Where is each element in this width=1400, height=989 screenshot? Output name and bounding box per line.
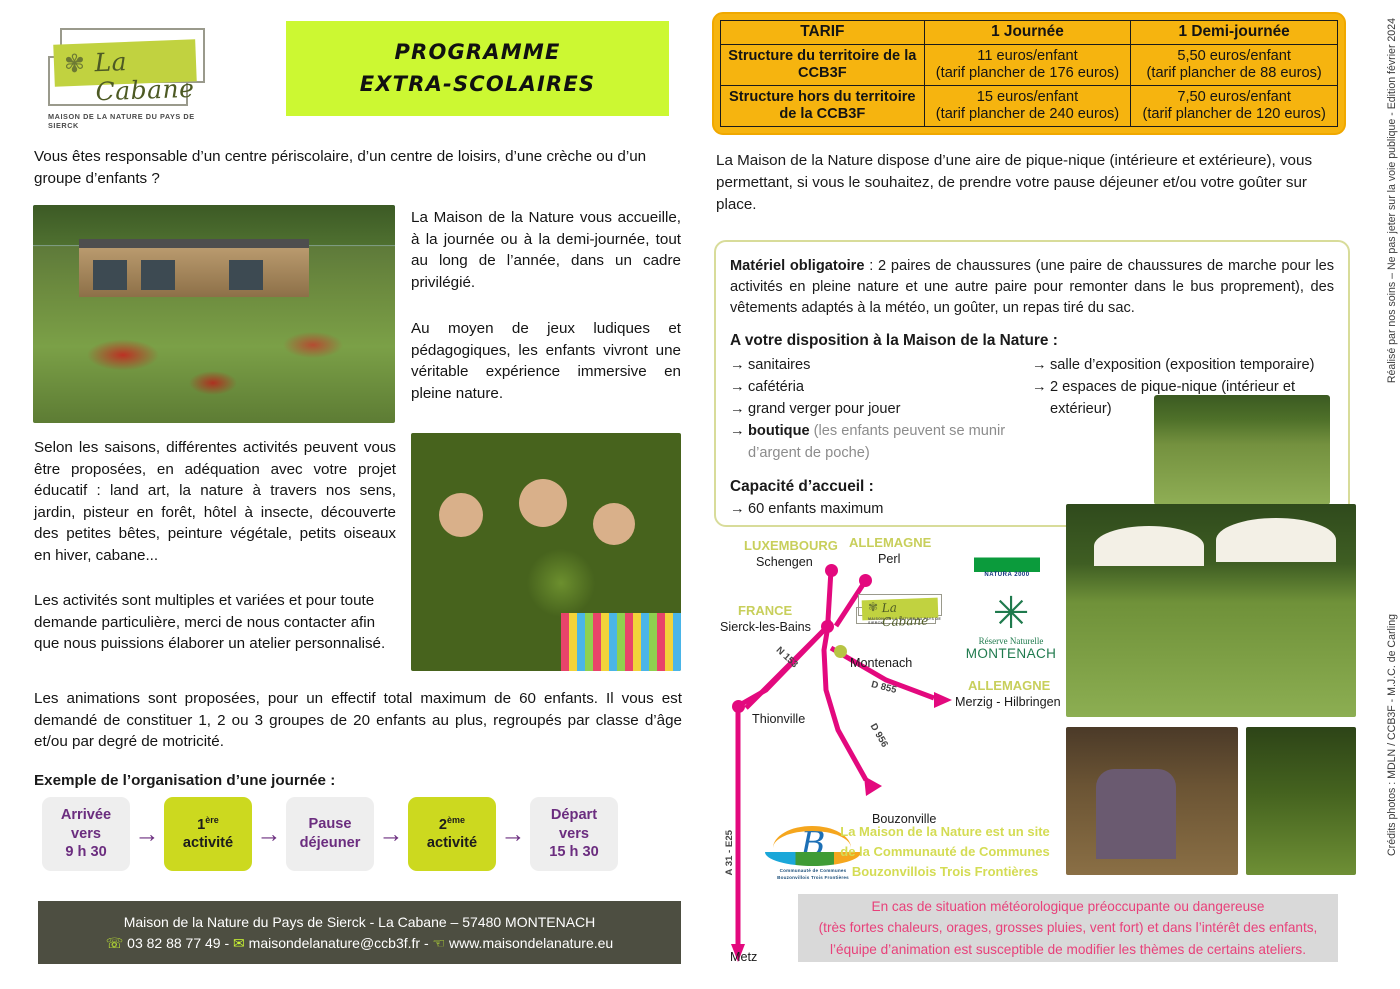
footer-contacts: ☏ 03 82 88 77 49 - ✉ maisondelanature@cc… <box>106 933 613 954</box>
margin-note-edition: Réalisé par nos soins – Ne pas jeter sur… <box>1386 18 1398 383</box>
flow-line: Arrivée <box>61 806 111 825</box>
arrow-merzig <box>934 692 952 708</box>
price-floor: (tarif plancher de 88 euros) <box>1135 65 1333 83</box>
footer-sep: - <box>424 935 429 951</box>
photo-window <box>93 260 127 290</box>
list-item: →boutique (les enfants peuvent se munir … <box>730 421 1032 465</box>
col-header-tarif: TARIF <box>721 21 925 45</box>
arrow-icon: → <box>730 355 745 377</box>
photo-child-head <box>519 479 567 527</box>
contact-footer: Maison de la Nature du Pays de Sierck - … <box>38 901 681 964</box>
footer-address: Maison de la Nature du Pays de Sierck - … <box>124 912 596 933</box>
meteo-line-2: (très fortes chaleurs, orages, grosses p… <box>819 917 1318 938</box>
example-day-title: Exemple de l’organisation d’une journée … <box>34 772 335 789</box>
tarif-table-container: TARIF 1 Journée 1 Demi-journée Structure… <box>712 12 1346 135</box>
colon: : <box>864 258 878 274</box>
price-value: 11 euros/enfant <box>929 48 1127 66</box>
map-logo-la-cabane: ✾ La Cabane MAISON DE LA NATURE DU PAYS … <box>856 593 946 627</box>
footer-website[interactable]: www.maisondelanature.eu <box>449 935 613 951</box>
tarif-table: TARIF 1 Journée 1 Demi-journée Structure… <box>720 20 1338 127</box>
natura-label: NATURA 2000 <box>974 572 1040 578</box>
banner-line-1: PROGRAMME <box>394 37 560 69</box>
arrow-icon: → <box>730 377 745 399</box>
photo-enfants-verger <box>1154 395 1330 505</box>
materiel-lead: Matériel obligatoire : 2 paires de chaus… <box>730 256 1334 319</box>
row-label-interne: Structure du territoire de la CCB3F <box>721 45 925 86</box>
natura-2000-logo: NATURA 2000 <box>974 540 1040 586</box>
photo-enfant-loupe <box>1066 727 1238 875</box>
flow-step-arrivee: Arrivée vers 9 h 30 <box>42 797 130 871</box>
list-item-label: salle d’exposition (exposition temporair… <box>1050 357 1314 373</box>
map-dot-schengen <box>825 564 838 577</box>
map-place-metz: Metz <box>730 950 757 964</box>
map-city-merzig: Merzig - Hilbringen <box>955 695 1061 709</box>
arrow-icon: → <box>130 822 164 847</box>
natura-image <box>974 540 1040 572</box>
site-statement: La Maison de la Nature est un site de la… <box>836 822 1054 882</box>
materiel-box: Matériel obligatoire : 2 paires de chaus… <box>714 240 1350 527</box>
margin-note-credits: Crédits photos : MDLN / CCB3F - M.J.C. d… <box>1386 614 1398 856</box>
photo-canopy <box>1094 526 1204 566</box>
hand-pointer-icon: ☜ <box>433 935 446 951</box>
photo-child-head <box>439 493 483 537</box>
photo-window <box>229 260 263 290</box>
flow-line: vers <box>559 825 589 844</box>
arrow-icon: → <box>496 822 530 847</box>
dispo-title: A votre disposition à la Maison de la Na… <box>730 332 1334 350</box>
flow-line: déjeuner <box>300 834 361 853</box>
meteo-line-1: En cas de situation météorologique préoc… <box>872 896 1265 917</box>
materiel-title: Matériel obligatoire <box>730 258 864 274</box>
logo-subtitle: MAISON DE LA NATURE DU PAYS DE SIERCK <box>48 112 225 130</box>
photo-canopy <box>1216 518 1336 562</box>
list-item-label: grand verger pour jouer <box>748 401 901 417</box>
flow-step-pause: Pause déjeuner <box>286 797 374 871</box>
para-saisons: Selon les saisons, différentes activités… <box>34 437 396 566</box>
flow-step-activite-1: 1ère activité <box>164 797 252 871</box>
map-logo-subtitle: MAISON DE LA NATURE DU PAYS DE SIERCK <box>868 617 946 625</box>
right-column: TARIF 1 Journée 1 Demi-journée Structure… <box>706 0 1400 989</box>
logo-la-cabane: ✾ La Cabane MAISON DE LA NATURE DU PAYS … <box>40 20 225 120</box>
day-flow-diagram: Arrivée vers 9 h 30 → 1ère activité → Pa… <box>42 796 682 872</box>
arrow-icon: → <box>730 399 745 421</box>
footer-email[interactable]: maisondelanature@ccb3f.fr <box>249 935 420 951</box>
para-jeux: Au moyen de jeux ludiques et pédagogique… <box>411 318 681 404</box>
meteo-line-3: l’équipe d’animation est susceptible de … <box>830 939 1306 960</box>
photo-enfants-foret <box>1246 727 1356 875</box>
arrow-bouzonville <box>864 776 882 796</box>
cell-journee-interne: 11 euros/enfant (tarif plancher de 176 e… <box>924 45 1131 86</box>
flow-line: 15 h 30 <box>549 843 599 862</box>
map-city-perl: Perl <box>878 552 900 566</box>
photo-child-head <box>593 503 635 545</box>
list-item: →salle d’exposition (exposition temporai… <box>1032 355 1334 377</box>
arrow-icon: → <box>252 822 286 847</box>
reserve-line-2: MONTENACH <box>964 646 1058 661</box>
flow-line: vers <box>71 825 101 844</box>
flow-line: 1ère <box>197 815 219 835</box>
capacite-value: 60 enfants maximum <box>748 501 883 517</box>
row-label-externe: Structure hors du territoire de la CCB3F <box>721 86 925 127</box>
flow-line: Pause <box>309 815 352 834</box>
photo-maison-nature <box>33 205 395 423</box>
photo-enfants-bac <box>411 433 681 671</box>
map-dot-thionville <box>732 700 745 713</box>
photo-child-jacket <box>1096 769 1176 859</box>
left-column: ✾ La Cabane MAISON DE LA NATURE DU PAYS … <box>0 0 706 989</box>
map-dot-montenach <box>834 645 847 658</box>
col-header-demi: 1 Demi-journée <box>1131 21 1338 45</box>
col-header-journee: 1 Journée <box>924 21 1131 45</box>
arrow-icon: → <box>730 499 745 521</box>
flow-step-depart: Départ vers 15 h 30 <box>530 797 618 871</box>
list-item: →grand verger pour jouer <box>730 399 1032 421</box>
para-welcome: La Maison de la Nature vous accueille, à… <box>411 207 681 293</box>
price-value: 7,50 euros/enfant <box>1135 89 1333 107</box>
map-city-sierck: Sierck-les-Bains <box>720 620 811 634</box>
flow-line: 2ème <box>439 815 465 835</box>
cell-journee-externe: 15 euros/enfant (tarif plancher de 240 e… <box>924 86 1131 127</box>
photo-window <box>141 260 175 290</box>
flow-step-activite-2: 2ème activité <box>408 797 496 871</box>
price-floor: (tarif plancher de 120 euros) <box>1135 106 1333 124</box>
photo-pencils <box>561 613 681 671</box>
price-floor: (tarif plancher de 176 euros) <box>929 65 1127 83</box>
cell-demi-interne: 5,50 euros/enfant (tarif plancher de 88 … <box>1131 45 1338 86</box>
map-country-allemagne-merzig: ALLEMAGNE <box>968 678 1050 693</box>
map-dot-perl <box>859 574 872 587</box>
meteo-warning-box: En cas de situation météorologique préoc… <box>798 894 1338 962</box>
flow-line: activité <box>427 834 477 853</box>
reserve-line-1: Réserve Naturelle <box>964 636 1058 646</box>
dispo-col-left: →sanitaires →cafétéria →grand verger pou… <box>730 355 1032 464</box>
price-value: 5,50 euros/enfant <box>1135 48 1333 66</box>
list-item: →sanitaires <box>730 355 1032 377</box>
photo-groupe-tentes <box>1066 504 1356 717</box>
list-item-label: sanitaires <box>748 357 810 373</box>
brochure-page: ✾ La Cabane MAISON DE LA NATURE DU PAYS … <box>0 0 1400 989</box>
cell-demi-externe: 7,50 euros/enfant (tarif plancher de 120… <box>1131 86 1338 127</box>
arrow-icon: → <box>1032 355 1047 377</box>
map-dot-sierck <box>821 620 834 633</box>
photo-building <box>79 239 309 297</box>
flower-icon: ✾ <box>64 52 88 76</box>
map-country-france: FRANCE <box>738 603 792 618</box>
location-map: LUXEMBOURG Schengen ALLEMAGNE Perl FRANC… <box>706 530 1066 980</box>
map-road-a31: A 31 - E25 <box>724 830 735 876</box>
flower-icon: ✾ <box>868 601 878 613</box>
map-place-montenach: Montenach <box>850 656 912 670</box>
leaf-rosette-icon: ✳ <box>988 592 1034 636</box>
banner-line-2: EXTRA-SCOLAIRES <box>360 69 595 101</box>
logo-script-text: La Cabane <box>94 44 226 107</box>
price-floor: (tarif plancher de 240 euros) <box>929 106 1127 124</box>
reserve-naturelle-logo: ✳ Réserve Naturelle MONTENACH <box>964 592 1058 661</box>
flow-line: activité <box>183 834 233 853</box>
map-place-thionville: Thionville <box>752 712 805 726</box>
flow-line: Départ <box>551 806 597 825</box>
table-row: Structure du territoire de la CCB3F 11 e… <box>721 45 1338 86</box>
phone-icon: ☏ <box>106 935 124 951</box>
price-value: 15 euros/enfant <box>929 89 1127 107</box>
list-item-label: boutique <box>748 423 810 439</box>
mail-icon: ✉ <box>233 935 245 951</box>
list-item: →cafétéria <box>730 377 1032 399</box>
map-country-allemagne-perl: ALLEMAGNE <box>849 535 931 550</box>
para-animations: Les animations sont proposées, pour un e… <box>34 688 682 753</box>
table-header-row: TARIF 1 Journée 1 Demi-journée <box>721 21 1338 45</box>
table-row: Structure hors du territoire de la CCB3F… <box>721 86 1338 127</box>
footer-phone: 03 82 88 77 49 <box>127 935 220 951</box>
map-country-luxembourg: LUXEMBOURG <box>744 538 838 553</box>
arrow-icon: → <box>374 822 408 847</box>
intro-paragraph: Vous êtes responsable d’un centre périsc… <box>34 146 682 189</box>
para-multiples: Les activités sont multiples et variées … <box>34 590 396 655</box>
title-banner: PROGRAMME EXTRA-SCOLAIRES <box>286 21 669 116</box>
flow-line: 9 h 30 <box>65 843 106 862</box>
map-city-schengen: Schengen <box>756 555 813 569</box>
arrow-icon: → <box>1032 377 1047 399</box>
para-pique-nique: La Maison de la Nature dispose d’une air… <box>716 150 1348 216</box>
list-item-label: cafétéria <box>748 379 804 395</box>
arrow-icon: → <box>730 421 745 443</box>
footer-sep: - <box>224 935 229 951</box>
